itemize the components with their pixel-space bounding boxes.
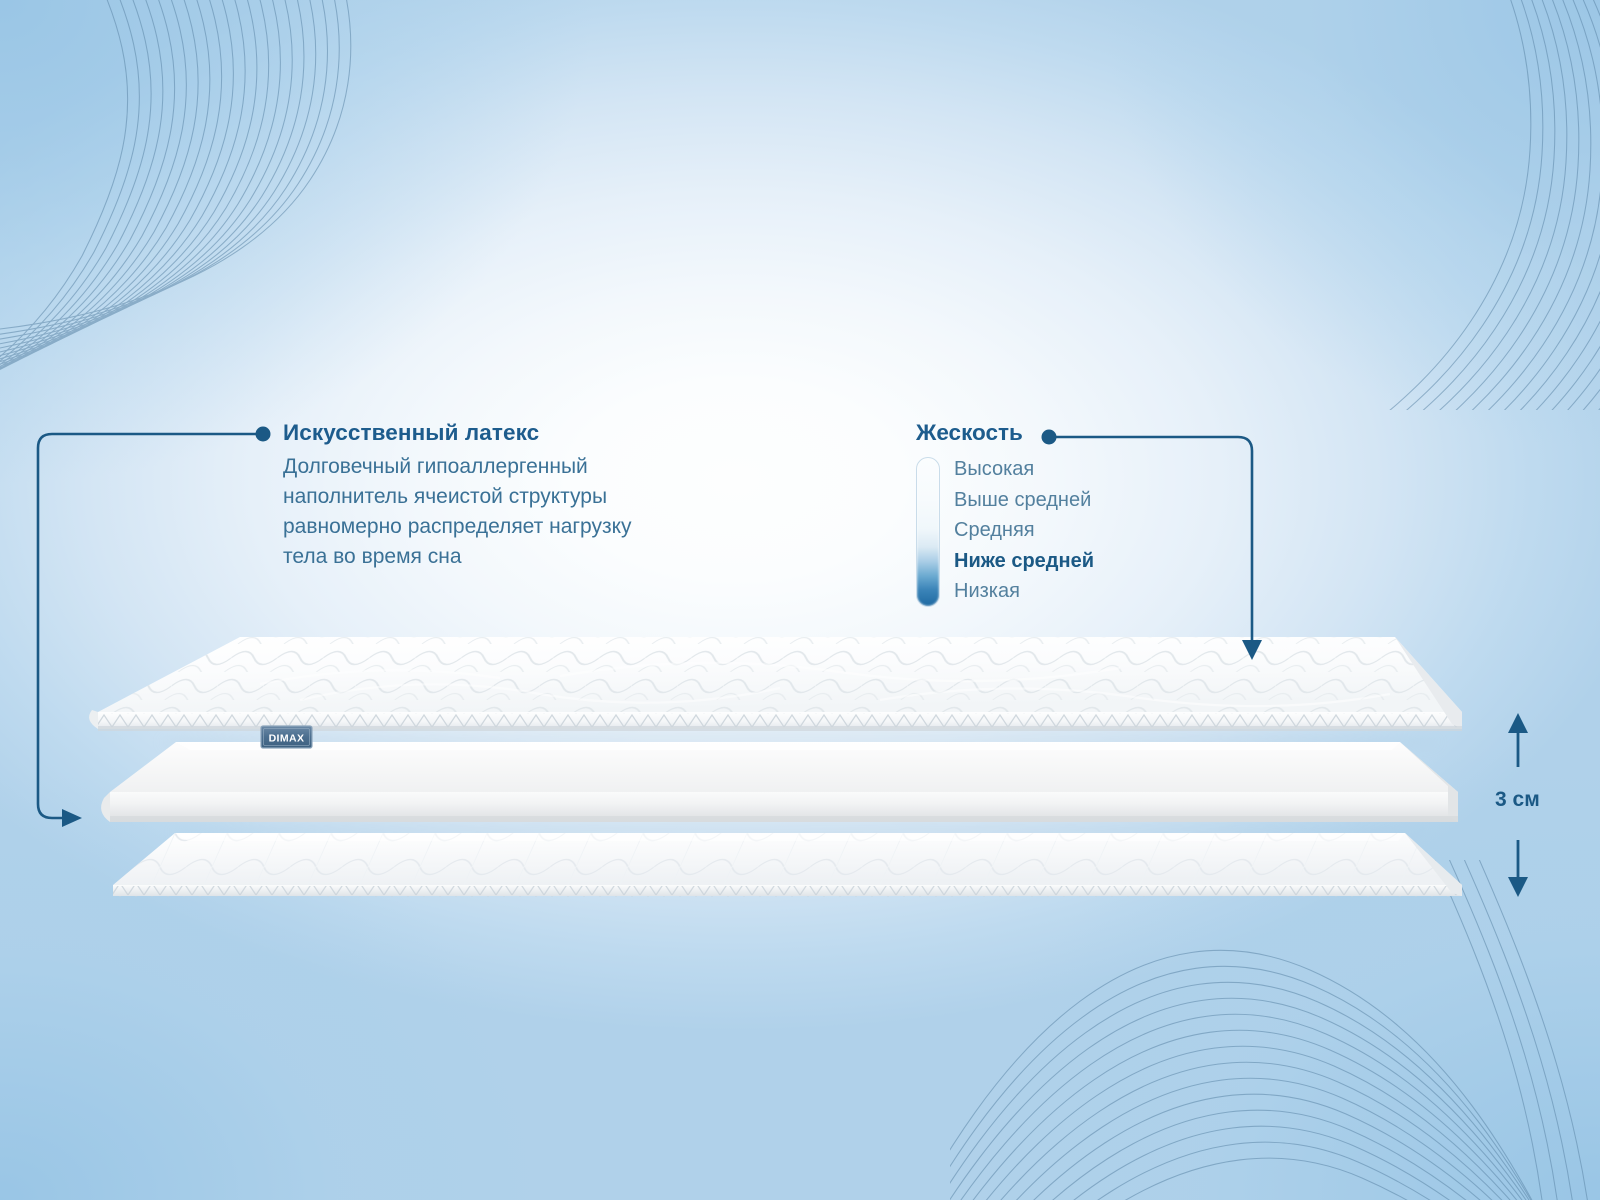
latex-callout-body-line: равномерно распределяет нагрузку [283, 512, 743, 542]
latex-callout-body-line: наполнитель ячеистой структуры [283, 482, 743, 512]
infographic-canvas: DIMAX Искусственный латекс Долговечный г… [0, 0, 1600, 1200]
latex-callout-body-line: Долговечный гипоаллергенный [283, 452, 743, 482]
thickness-indicator: 3 см [1495, 705, 1600, 905]
arrow-down-icon [1508, 840, 1528, 897]
latex-callout-title: Искусственный латекс [283, 419, 743, 447]
firmness-level-above-medium: Выше средней [954, 485, 1094, 516]
brand-tag-label: DIMAX [269, 733, 305, 745]
firmness-level-high: Высокая [954, 454, 1094, 485]
firmness-title: Жескость [916, 419, 1246, 446]
firmness-level-medium: Средняя [954, 515, 1094, 546]
latex-callout-body: Долговечный гипоаллергенный наполнитель … [283, 452, 743, 571]
mattress-layer-bottom [113, 833, 1462, 897]
firmness-level-low: Низкая [954, 576, 1094, 607]
arrow-up-icon [1508, 713, 1528, 767]
latex-callout-block: Искусственный латекс Долговечный гипоалл… [283, 419, 743, 571]
firmness-block: Жескость Высокая Выше средней Средняя Ни… [916, 419, 1246, 607]
mattress-layer-core [101, 742, 1458, 822]
firmness-level-list: Высокая Выше средней Средняя Ниже средне… [954, 454, 1094, 607]
mattress-layer-top [89, 637, 1462, 731]
brand-tag: DIMAX [261, 726, 312, 748]
firmness-gradient-bar [916, 457, 940, 607]
thickness-value: 3 см [1495, 788, 1587, 812]
mattress-layers-illustration: DIMAX [0, 0, 1600, 1200]
latex-callout-body-line: тела во время сна [283, 542, 743, 572]
firmness-level-below-medium: Ниже средней [954, 546, 1094, 577]
